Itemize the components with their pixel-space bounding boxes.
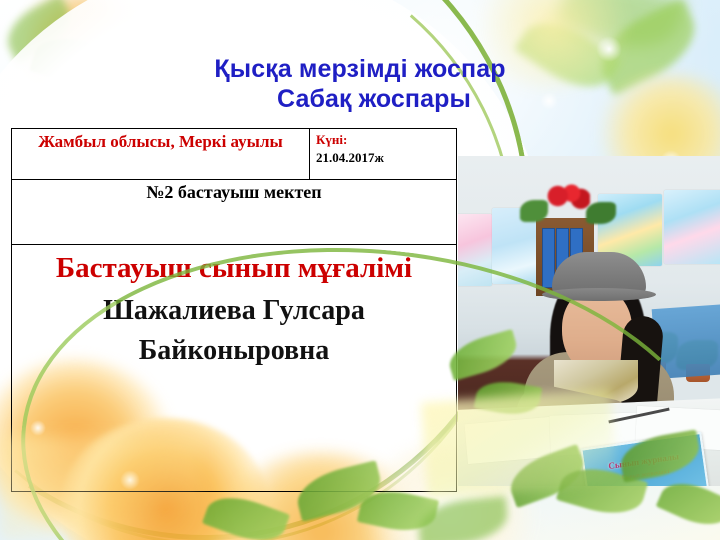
table-row-teacher: Бастауыш сынып мұғалімі Шажалиева Гулсар… — [12, 245, 457, 492]
photo-wall-poster-4 — [664, 190, 720, 264]
cell-date: Күні: 21.04.2017ж — [310, 129, 457, 180]
slide-canvas: Қысқа мерзімді жоспар Сабақ жоспары — [0, 0, 720, 540]
teacher-photo: Сынып журналы Сынып жетекшісі — [458, 156, 720, 486]
photo-wall-poster-1 — [458, 214, 492, 286]
photo-teacher-hat-brim — [542, 288, 656, 301]
teacher-name: Шажалиева Гулсара Байконыровна — [18, 291, 450, 371]
slide-title: Қысқа мерзімді жоспар Сабақ жоспары — [0, 54, 720, 114]
lesson-plan-info-table: Жамбыл облысы, Меркі ауылы Күні: 21.04.2… — [11, 128, 457, 492]
date-value: 21.04.2017ж — [316, 149, 450, 167]
photo-plant-1 — [520, 200, 548, 222]
cell-region: Жамбыл облысы, Меркі ауылы — [12, 129, 310, 180]
teacher-role: Бастауыш сынып мұғалімі — [18, 247, 450, 289]
table-row-school: №2 бастауыш мектеп — [12, 180, 457, 245]
photo-plant-2 — [586, 202, 616, 224]
title-line-1: Қысқа мерзімді жоспар — [0, 54, 720, 84]
table-row-region-date: Жамбыл облысы, Меркі ауылы Күні: 21.04.2… — [12, 129, 457, 180]
date-label: Күні: — [316, 131, 450, 149]
cell-teacher: Бастауыш сынып мұғалімі Шажалиева Гулсар… — [12, 245, 457, 492]
cell-school: №2 бастауыш мектеп — [12, 180, 457, 245]
title-line-2: Сабақ жоспары — [28, 84, 720, 114]
photo-red-flowers — [544, 182, 590, 210]
